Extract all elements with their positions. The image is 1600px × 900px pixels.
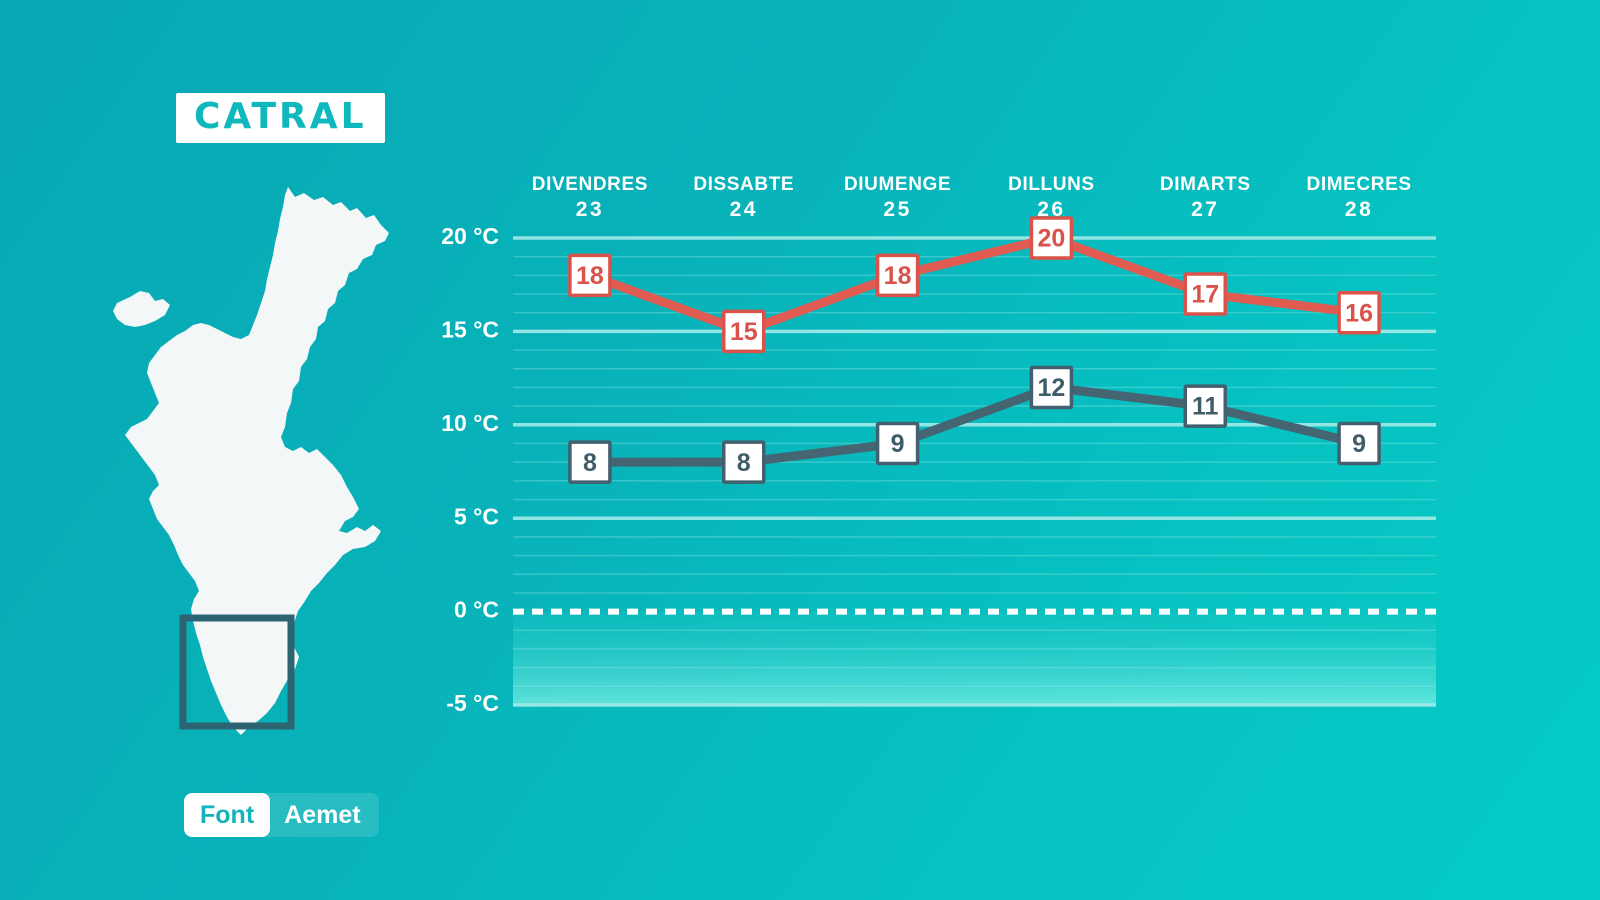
y-axis-ticks: 20 °C15 °C10 °C5 °C0 °C-5 °C [441,223,499,716]
y-axis-tick-label: 20 °C [441,223,499,249]
y-axis-tick-label: -5 °C [446,690,499,716]
source-value: Aemet [270,793,378,837]
day-name-label: DIVENDRES [532,174,648,195]
value-box-max: 18 [878,255,918,295]
value-box-min: 8 [570,442,610,482]
map-region-shape [113,187,389,735]
day-name-label: DIMARTS [1160,174,1251,195]
day-number-label: 28 [1345,198,1373,221]
day-headers: DIVENDRES23DISSABTE24DIUMENGE25DILLUNS26… [532,174,1412,221]
value-box-max: 17 [1185,274,1225,314]
day-number-label: 23 [576,198,604,221]
value-box-text: 12 [1038,374,1066,402]
day-number-label: 25 [883,198,911,221]
day-name-label: DILLUNS [1008,174,1095,195]
value-box-max: 16 [1339,293,1379,333]
y-axis-tick-label: 5 °C [454,503,499,529]
page-title: CATRAL [194,99,367,135]
value-box-max: 15 [724,311,764,351]
value-box-text: 18 [884,262,912,290]
temperature-chart: 20 °C15 °C10 °C5 °C0 °C-5 °C DIVENDRES23… [418,168,1448,728]
day-name-label: DIMECRES [1307,174,1412,195]
day-name-label: DIUMENGE [844,174,951,195]
value-box-max: 20 [1031,218,1071,258]
value-box-text: 9 [891,430,905,458]
value-box-text: 16 [1345,299,1373,327]
y-axis-tick-label: 15 °C [441,316,499,342]
value-box-text: 18 [576,262,604,290]
value-box-min: 12 [1031,367,1071,407]
value-box-text: 20 [1038,225,1066,253]
source-badge: Font Aemet [184,793,379,837]
series-line-max [590,238,1359,331]
region-map [95,175,405,755]
value-box-text: 8 [583,449,597,477]
value-box-min: 9 [878,423,918,463]
value-box-text: 9 [1352,430,1366,458]
value-box-text: 11 [1192,393,1219,421]
day-number-label: 27 [1191,198,1219,221]
day-name-label: DISSABTE [693,174,794,195]
source-label: Font [184,793,270,837]
day-number-label: 24 [730,198,758,221]
value-box-min: 8 [724,442,764,482]
y-axis-tick-label: 0 °C [454,597,499,623]
value-box-min: 11 [1185,386,1225,426]
value-box-text: 8 [737,449,751,477]
value-box-text: 15 [730,318,758,346]
value-box-min: 9 [1339,423,1379,463]
location-title-badge: CATRAL [176,93,385,143]
y-axis-tick-label: 10 °C [441,410,499,436]
chart-below-zero-band [513,612,1436,705]
value-box-max: 18 [570,255,610,295]
value-box-text: 17 [1191,281,1219,309]
